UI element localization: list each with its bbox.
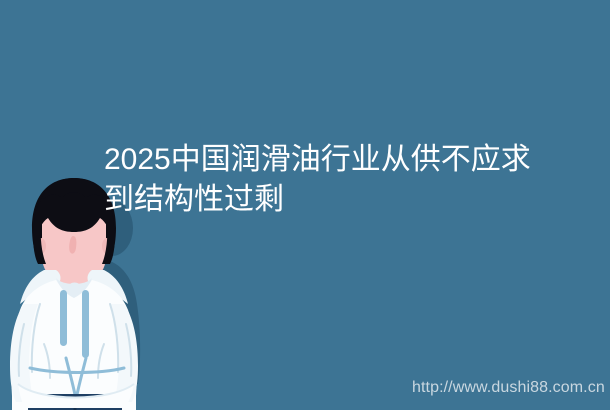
watermark-url: http://www.dushi88.com.cn [412, 379, 605, 397]
poster-canvas: 2025中国润滑油行业从供不应求到结构性过剩 http://www.dushi8… [0, 0, 610, 410]
page-title: 2025中国润滑油行业从供不应求到结构性过剩 [104, 140, 556, 220]
